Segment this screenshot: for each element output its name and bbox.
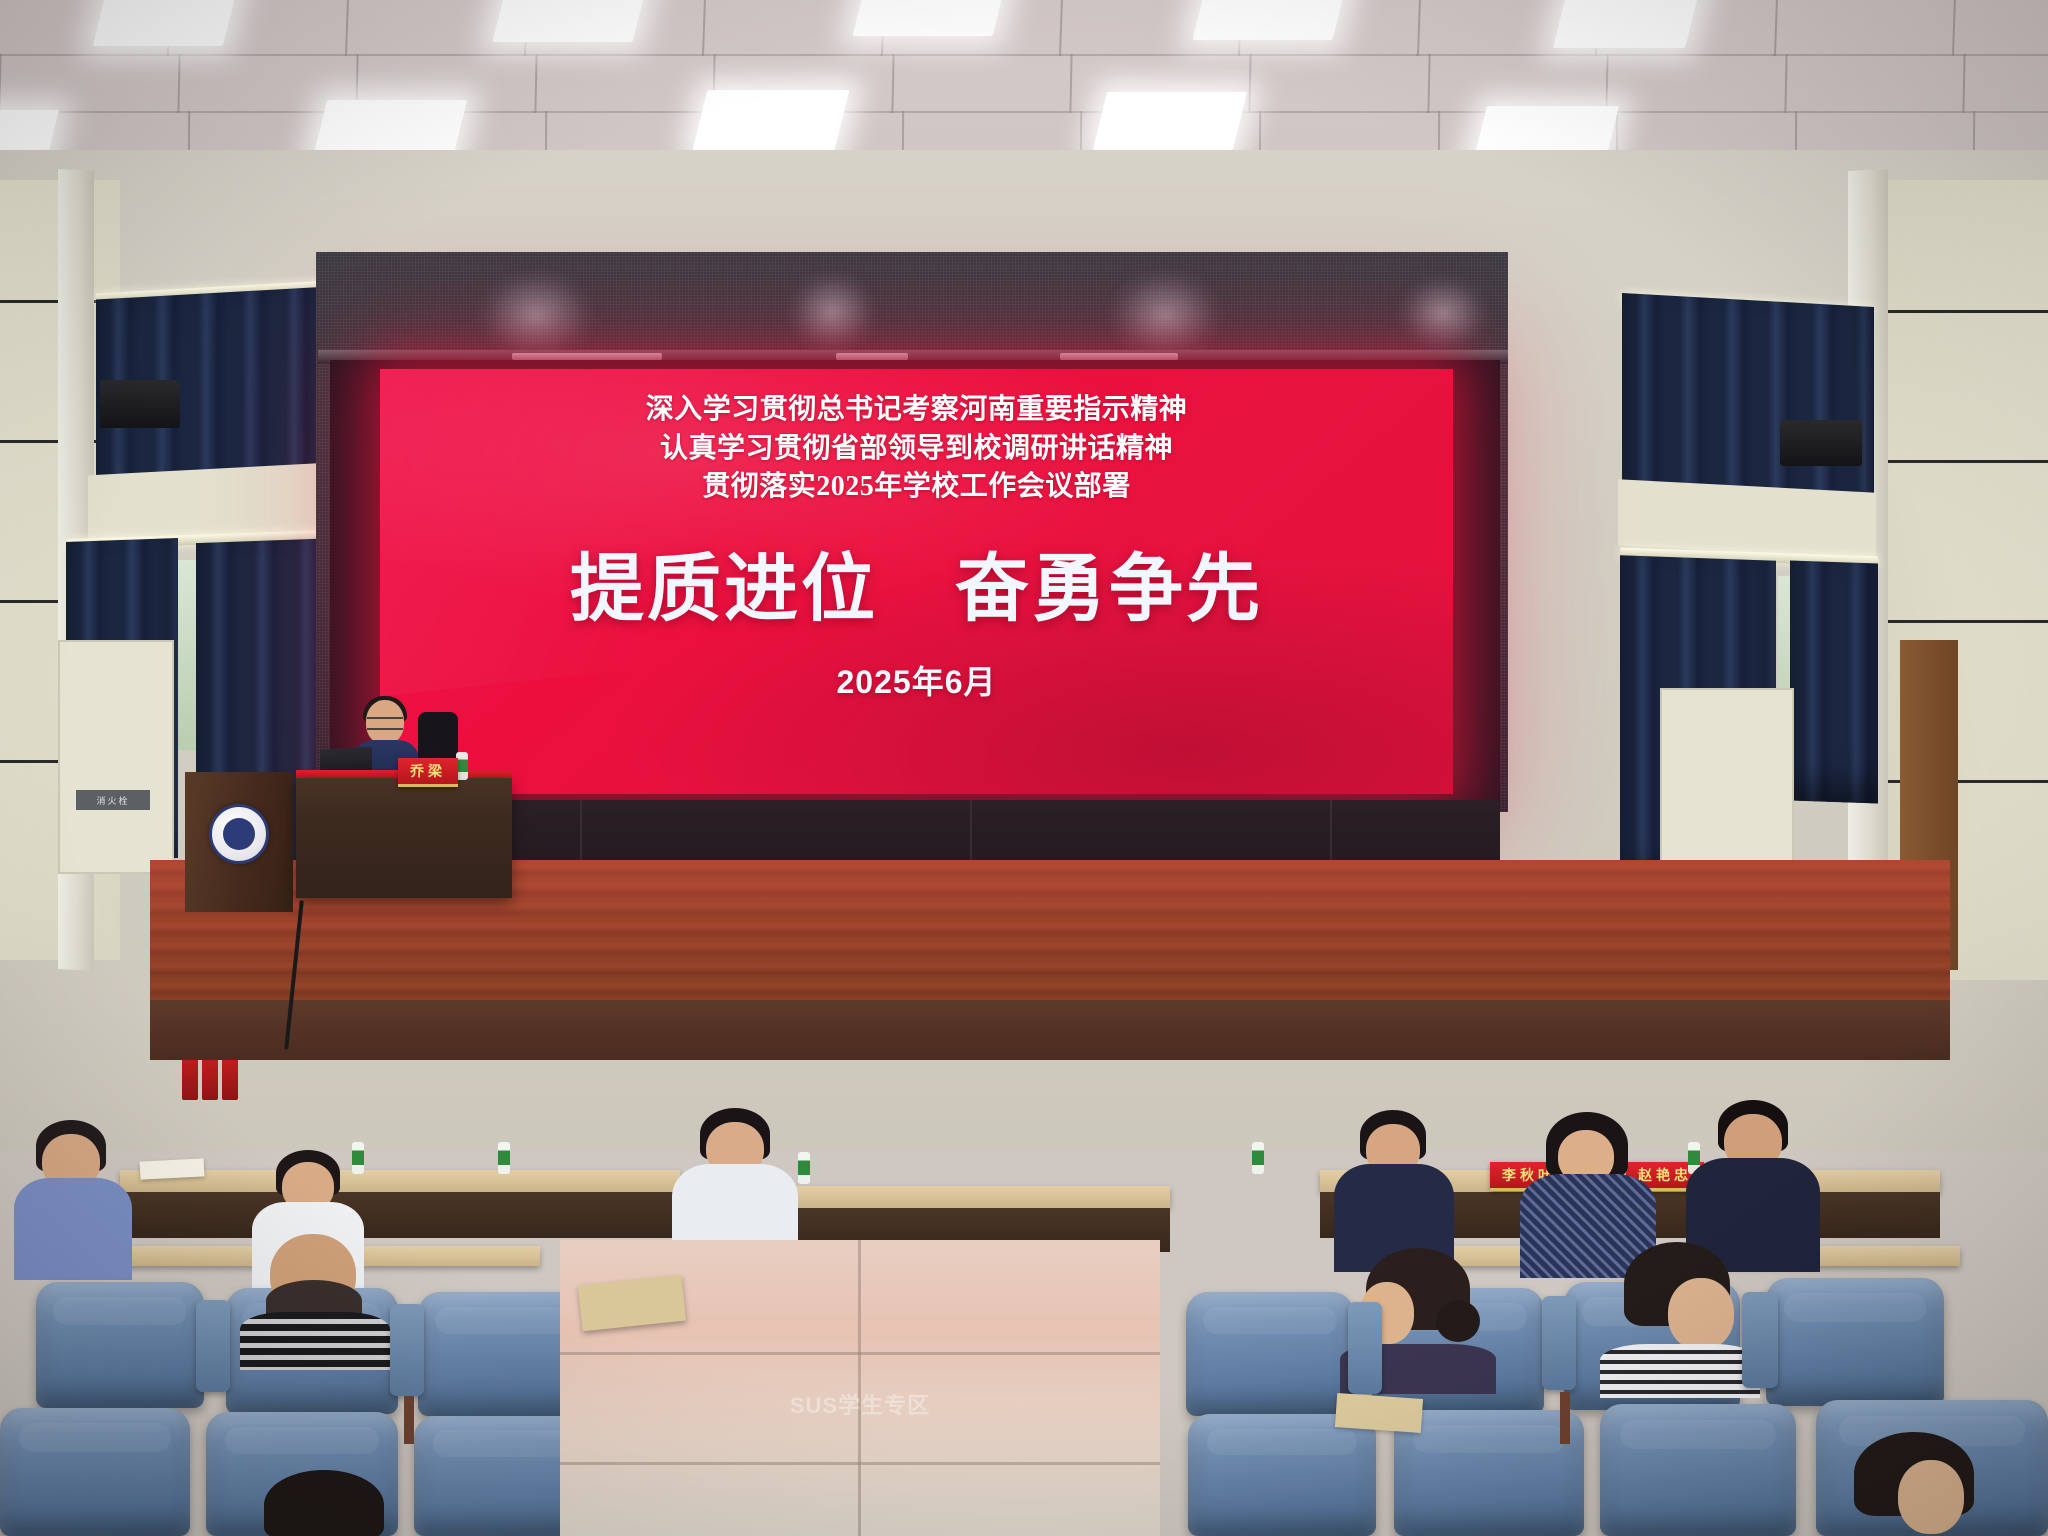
ceiling-tile (1427, 54, 1609, 113)
fire-hose-cabinet (58, 640, 174, 874)
led-headline: 提质进位 奋勇争先 (380, 529, 1453, 636)
ceiling-light-panel (493, 0, 648, 42)
stage-front-face (150, 1000, 1950, 1060)
water-bottle-b (498, 1142, 510, 1174)
lectern (185, 772, 293, 912)
henan-university-emblem (209, 804, 269, 864)
conference-hall-photo: 消火栓 深入学习贯彻总书记考察河南重要指示精神 认真学习贯彻省部领导到校调研讲话… (0, 0, 2048, 1536)
audience-person-navy-suit (1334, 1110, 1454, 1270)
right-mid-panel (1618, 479, 1876, 559)
name-placard-qiao-liang: 乔梁 (398, 758, 458, 787)
emblem-inner-disc (223, 818, 255, 850)
floor-aisle-marking: SUS学生专区 (560, 1388, 1160, 1420)
auditorium-seat[interactable] (0, 1408, 190, 1536)
ceiling-light-panel (853, 0, 1008, 36)
ceiling-tile (534, 54, 716, 113)
ceiling-spot-reflection-4 (1396, 274, 1490, 354)
audience-person-bottom-right (1836, 1432, 2016, 1536)
ceiling-light-panel (1553, 0, 1699, 48)
auditorium-seat[interactable] (1766, 1278, 1944, 1406)
seat-armrest (196, 1300, 230, 1392)
seat-armrest (1742, 1292, 1778, 1388)
led-screen: 深入学习贯彻总书记考察河南重要指示精神 认真学习贯彻省部领导到校调研讲话精神 贯… (380, 369, 1453, 794)
ceiling-light-panel (93, 0, 237, 46)
notepad-bottom-right (1335, 1393, 1423, 1433)
bezel-highlight-2 (836, 353, 908, 360)
notebook-on-desk-left (140, 1158, 205, 1179)
ceiling-tile (891, 54, 1073, 113)
audience-person-bald-striped (240, 1234, 390, 1354)
fire-hose-cabinet-label: 消火栓 (76, 790, 150, 810)
audience-person-glasses-dark-hair (1600, 1242, 1760, 1382)
bezel-highlight-3 (1060, 353, 1178, 360)
auditorium-seat[interactable] (1394, 1410, 1584, 1536)
front-desk-left-face (120, 1192, 680, 1238)
water-bottle-c (798, 1152, 810, 1184)
auditorium-seat[interactable] (1188, 1414, 1376, 1536)
auditorium-seat[interactable] (1186, 1292, 1354, 1416)
ceiling-tile (1952, 0, 2048, 56)
head (1668, 1278, 1734, 1350)
speaker-glasses (367, 717, 403, 730)
led-subtitle-line-1: 深入学习贯彻总书记考察河南重要指示精神 (380, 391, 1453, 430)
hair-bun (1436, 1300, 1480, 1342)
torso (1600, 1344, 1760, 1398)
auditorium-seat[interactable] (1600, 1404, 1796, 1536)
ceiling-tile (1248, 54, 1430, 113)
floor-tile-seam-h2 (560, 1462, 1160, 1465)
ceiling-tile (0, 54, 180, 113)
seat-armrest (390, 1304, 424, 1396)
ceiling-tile (1784, 54, 1966, 113)
torso (14, 1178, 132, 1280)
right-panel-seam-1 (1880, 310, 2048, 313)
audience-person-bottom-center (244, 1470, 414, 1536)
water-bottle-d (1252, 1142, 1264, 1174)
head (1898, 1460, 1964, 1534)
led-date: 2025年6月 (380, 657, 1453, 703)
left-loudspeaker (100, 380, 180, 428)
ceiling-tile (1962, 54, 2048, 113)
led-subtitle-line-2: 认真学习贯彻省部领导到校调研讲话精神 (380, 430, 1453, 469)
front-desk-center (780, 1186, 1170, 1208)
led-subtitle-line-3: 贯彻落实2025年学校工作会议部署 (380, 468, 1453, 507)
audience-person-left-blue (14, 1120, 132, 1280)
ceiling-light-panel (693, 90, 850, 150)
ceiling-spot-reflection-2 (786, 270, 878, 356)
seat-armrest (1542, 1296, 1576, 1390)
ceiling-light-panel (1193, 0, 1348, 40)
bezel-highlight-1 (512, 353, 662, 360)
ceiling-tile (1605, 54, 1787, 113)
ceiling-tile (1773, 0, 1956, 56)
torso (240, 1312, 390, 1370)
auditorium-seat[interactable] (36, 1282, 204, 1408)
ceiling-light-panel (1093, 92, 1247, 150)
right-loudspeaker (1780, 420, 1862, 466)
seat-pedestal (404, 1396, 414, 1444)
right-lower-curtain-b (1790, 560, 1878, 803)
led-subtitle-block: 深入学习贯彻总书记考察河南重要指示精神 认真学习贯彻省部领导到校调研讲话精神 贯… (380, 391, 1453, 507)
hair (264, 1470, 384, 1536)
seat-pedestal (1560, 1392, 1570, 1444)
seat-armrest (1348, 1302, 1382, 1394)
right-panel-seam-2 (1880, 460, 2048, 463)
right-panel-seam-3 (1880, 620, 2048, 623)
head-table (296, 778, 512, 898)
floor-tile-seam-h1 (560, 1352, 1160, 1355)
